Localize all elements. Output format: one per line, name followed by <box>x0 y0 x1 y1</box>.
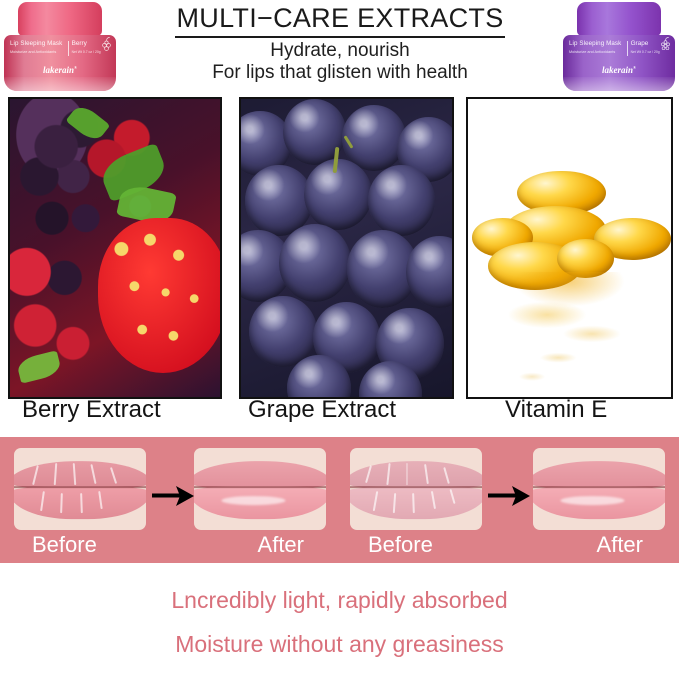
grape-product-name: Lip Sleeping Mask <box>569 41 627 48</box>
berry-weight: Net Wt 0.7 oz / 20g <box>72 51 101 55</box>
product-infographic: Lip Sleeping Mask Moisturize and Antioxi… <box>0 0 679 679</box>
before-lips-image-2 <box>350 448 482 530</box>
grape-weight: Net Wt 0.7 oz / 20g <box>631 51 660 55</box>
right-arrow-icon <box>488 485 530 507</box>
dry-lips-illustration <box>14 448 146 530</box>
headline-block: MULTI−CARE EXTRACTS Hydrate, nourish For… <box>118 4 562 84</box>
berry-flavor: Berry <box>72 41 87 48</box>
grape-jar-label: Lip Sleeping Mask Moisturize and Antioxi… <box>569 41 669 56</box>
before-after-pair-2: Before After <box>350 448 665 552</box>
ingredient-image-vitamin-e <box>466 97 673 399</box>
after-label-2: After <box>597 534 643 556</box>
right-arrow-icon <box>152 485 194 507</box>
headline-subtitle-1: Hydrate, nourish <box>118 40 562 62</box>
grape-cluster-photo <box>241 99 452 397</box>
caption-grape-extract: Grape Extract <box>248 398 396 422</box>
grape-flavor: Grape <box>631 41 649 48</box>
grape-jar-lid <box>577 2 661 36</box>
berry-jar-label: Lip Sleeping Mask Moisturize and Antioxi… <box>10 41 110 56</box>
after-lips-image-2 <box>533 448 665 530</box>
before-label-2: Before <box>368 534 433 556</box>
vitamin-e-capsules-photo <box>468 99 671 397</box>
berry-jar: Lip Sleeping Mask Moisturize and Antioxi… <box>4 2 116 94</box>
after-label-1: After <box>258 534 304 556</box>
healthy-lips-illustration <box>533 448 665 530</box>
after-lips-image-1 <box>194 448 326 530</box>
grape-jar-body: Lip Sleeping Mask Moisturize and Antioxi… <box>563 35 675 91</box>
tagline-1: Lncredibly light, rapidly absorbed <box>0 589 679 612</box>
before-label-1: Before <box>32 534 97 556</box>
dry-lips-illustration <box>350 448 482 530</box>
berry-product-name: Lip Sleeping Mask <box>10 41 68 48</box>
before-after-band: Before After <box>0 437 679 563</box>
before-after-pair-1: Before After <box>14 448 326 552</box>
healthy-lips-illustration <box>194 448 326 530</box>
ingredient-image-grape <box>239 97 454 399</box>
label-divider <box>68 41 69 56</box>
page-title: MULTI−CARE EXTRACTS <box>118 4 562 33</box>
title-underline <box>175 36 505 38</box>
berry-benefits: Moisturize and Antioxidants <box>10 50 68 54</box>
berry-brand: lakerain® <box>4 65 116 75</box>
grape-brand: lakerain® <box>563 65 675 75</box>
headline-subtitle-2: For lips that glisten with health <box>118 62 562 84</box>
grape-jar: Lip Sleeping Mask Moisturize and Antioxi… <box>563 2 675 94</box>
caption-vitamin-e: Vitamin E <box>505 398 607 422</box>
tagline-2: Moisture without any greasiness <box>0 633 679 656</box>
berry-jar-body: Lip Sleeping Mask Moisturize and Antioxi… <box>4 35 116 91</box>
berry-jar-lid <box>18 2 102 36</box>
mixed-berries-photo <box>10 99 220 397</box>
caption-berry-extract: Berry Extract <box>22 398 161 422</box>
ingredient-image-berry <box>8 97 222 399</box>
grape-benefits: Moisturize and Antioxidants <box>569 50 627 54</box>
label-divider <box>627 41 628 56</box>
before-lips-image-1 <box>14 448 146 530</box>
